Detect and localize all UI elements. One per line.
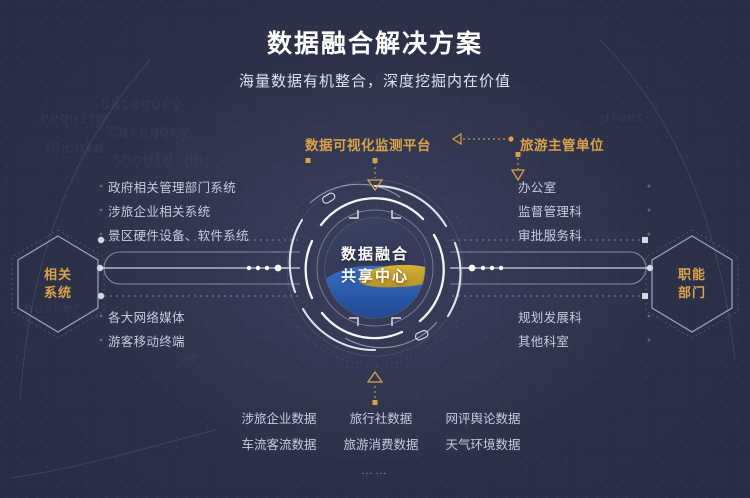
bg-text-6: of [180,352,198,369]
hexagon-right-line2: 部门 [678,284,706,302]
page-subtitle: 海量数据有机整合，深度挖掘内在价值 [0,70,750,91]
table-row: 车流客流数据 旅游消费数据 天气环境数据 [231,432,531,458]
bg-text-1: Category [108,124,190,143]
center-hub[interactable]: 数据融合 共享中心 [275,168,475,368]
center-hub-label: 数据融合 共享中心 [275,244,475,288]
list-item[interactable]: 游客移动终端 [108,330,185,354]
left-top-source-list: 政府相关管理部门系统 涉旅企业相关系统 景区硬件设备、软件系统 [108,176,249,248]
list-item[interactable]: 各大网络媒体 [108,306,185,330]
list-item[interactable]: 涉旅企业相关系统 [108,200,249,224]
list-item[interactable]: 其他科室 [518,330,582,354]
right-top-department-list: 办公室 监督管理科 审批服务科 [518,176,582,248]
hexagon-left-line2: 系统 [44,284,72,302]
bg-text-7: plant [600,110,645,127]
data-cell[interactable]: 车流客流数据 [231,432,327,458]
label-tourism-authority[interactable]: 旅游主管单位 [520,134,604,154]
data-cell[interactable]: 旅游消费数据 [333,432,429,458]
right-bottom-department-list: 规划发展科 其他科室 [518,306,582,354]
center-line-2: 共享中心 [275,266,475,288]
data-cell[interactable]: 天气环境数据 [435,432,531,458]
bg-text-3: require [40,110,107,128]
infographic-root: Category Category Should do require Shou… [0,0,750,498]
page-title: 数据融合解决方案 [0,24,750,60]
data-cell[interactable]: 网评舆论数据 [435,406,531,432]
list-item[interactable]: 景区硬件设备、软件系统 [108,224,249,248]
list-item[interactable]: 规划发展科 [518,306,582,330]
hexagon-right-label: 职能 部门 [652,236,732,332]
bottom-data-grid: 涉旅企业数据 旅行社数据 网评舆论数据 车流客流数据 旅游消费数据 天气环境数据 [231,406,531,458]
left-bottom-source-list: 各大网络媒体 游客移动终端 [108,306,185,354]
bg-text-0: Category [100,96,182,115]
bottom-data-marker [368,372,382,405]
bg-text-2: Should do [112,152,204,171]
hexagon-left-label: 相关 系统 [18,236,98,332]
list-item[interactable]: 办公室 [518,176,582,200]
list-item[interactable]: 审批服务科 [518,224,582,248]
hexagon-left-line1: 相关 [44,266,72,284]
list-item[interactable]: 政府相关管理部门系统 [108,176,249,200]
hexagon-left-related-systems[interactable]: 相关 系统 [18,236,98,332]
table-row: 涉旅企业数据 旅行社数据 网评舆论数据 [231,406,531,432]
data-cell[interactable]: 旅行社数据 [333,406,429,432]
data-cell[interactable]: 涉旅企业数据 [231,406,327,432]
list-item[interactable]: 监督管理科 [518,200,582,224]
center-line-1: 数据融合 [275,244,475,266]
hexagon-right-line1: 职能 [678,266,706,284]
bg-text-4: Should [46,140,104,158]
hexagon-right-functional-departments[interactable]: 职能 部门 [652,236,732,332]
label-visualization-platform[interactable]: 数据可视化监测平台 [305,134,431,154]
bottom-ellipsis: …… [0,463,750,477]
